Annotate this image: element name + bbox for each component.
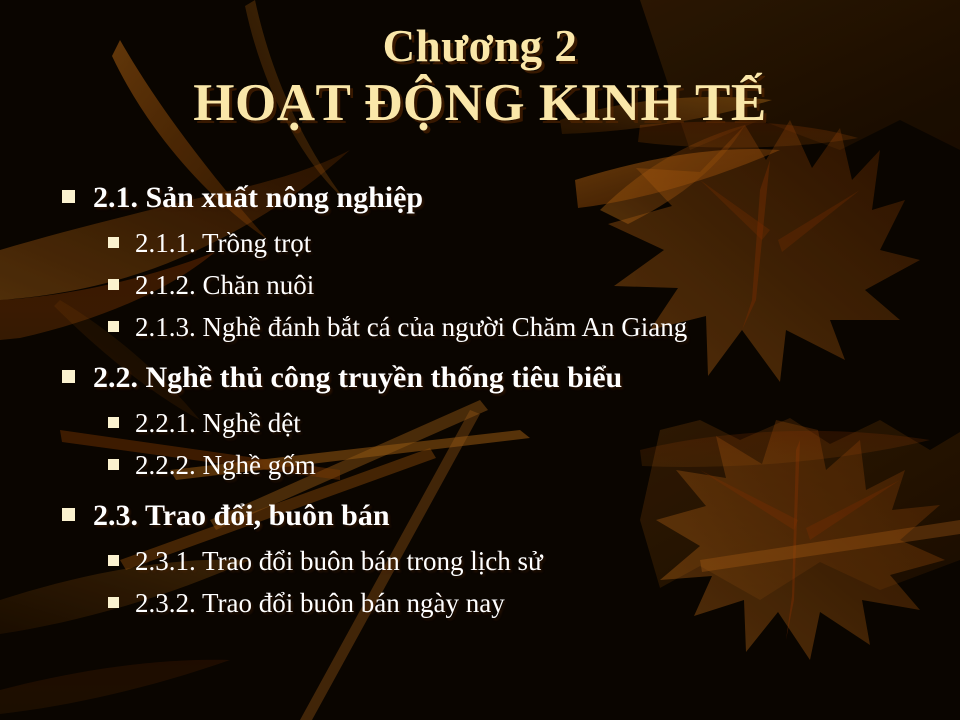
bullet-square-icon: [108, 555, 119, 566]
bullet-square-icon: [62, 370, 75, 383]
bullet-square-icon: [108, 417, 119, 428]
title-line-2: HOẠT ĐỘNG KINH TẾ: [0, 77, 960, 130]
slide-outline-list: 2.1. Sản xuất nông nghiệp 2.1.1. Trồng t…: [0, 176, 960, 625]
bullet-square-icon: [62, 190, 75, 203]
outline-item-level2: 2.1.2. Chăn nuôi: [0, 265, 960, 307]
bullet-square-icon: [108, 279, 119, 290]
outline-item-level2: 2.1.1. Trồng trọt: [0, 223, 960, 265]
outline-item-level2: 2.3.1. Trao đổi buôn bán trong lịch sử: [0, 541, 960, 583]
outline-item-text: 2.1.2. Chăn nuôi: [135, 265, 314, 305]
outline-item-text: 2.3. Trao đổi, buôn bán: [93, 494, 390, 538]
title-line-1: Chương 2: [0, 24, 960, 69]
outline-item-level2: 2.2.2. Nghề gốm: [0, 445, 960, 487]
bullet-square-icon: [108, 321, 119, 332]
outline-item-level1: 2.3. Trao đổi, buôn bán: [0, 494, 960, 541]
outline-item-text: 2.2.2. Nghề gốm: [135, 445, 316, 485]
outline-item-text: 2.2. Nghề thủ công truyền thống tiêu biể…: [93, 356, 622, 400]
outline-item-text: 2.1. Sản xuất nông nghiệp: [93, 176, 423, 220]
outline-item-level2: 2.1.3. Nghề đánh bắt cá của người Chăm A…: [0, 307, 960, 349]
bullet-square-icon: [108, 597, 119, 608]
bullet-square-icon: [62, 508, 75, 521]
presentation-slide: Chương 2 HOẠT ĐỘNG KINH TẾ 2.1. Sản xuất…: [0, 0, 960, 720]
outline-item-level1: 2.2. Nghề thủ công truyền thống tiêu biể…: [0, 356, 960, 403]
outline-item-text: 2.2.1. Nghề dệt: [135, 403, 301, 443]
outline-item-text: 2.3.2. Trao đổi buôn bán ngày nay: [135, 583, 505, 623]
outline-item-level1: 2.1. Sản xuất nông nghiệp: [0, 176, 960, 223]
outline-item-text: 2.1.3. Nghề đánh bắt cá của người Chăm A…: [135, 307, 687, 347]
outline-item-level2: 2.3.2. Trao đổi buôn bán ngày nay: [0, 583, 960, 625]
slide-title: Chương 2 HOẠT ĐỘNG KINH TẾ: [0, 24, 960, 130]
bullet-square-icon: [108, 459, 119, 470]
outline-item-text: 2.3.1. Trao đổi buôn bán trong lịch sử: [135, 541, 543, 581]
outline-item-text: 2.1.1. Trồng trọt: [135, 223, 311, 263]
bullet-square-icon: [108, 237, 119, 248]
outline-item-level2: 2.2.1. Nghề dệt: [0, 403, 960, 445]
